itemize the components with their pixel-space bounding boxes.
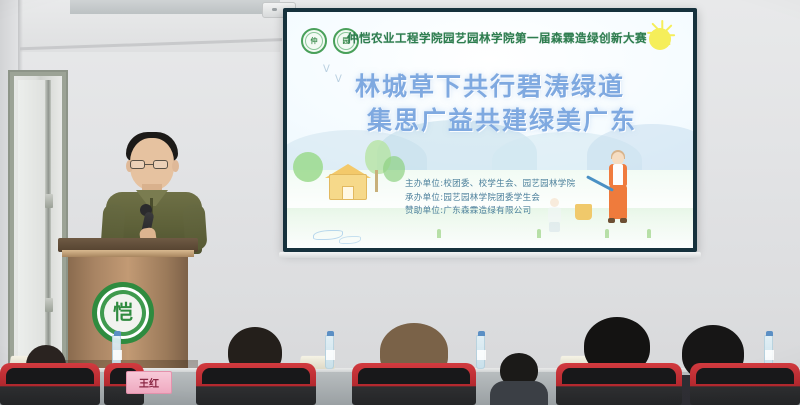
credit-line-organizer: 主办单位:校团委、校学生会、园艺园林学院 (405, 178, 605, 192)
chair[interactable] (690, 363, 800, 405)
grass-tuft (647, 229, 651, 238)
gardener-shoe (620, 218, 627, 223)
door-panel (14, 76, 62, 368)
slide-title-line-2: 集思广益共建绿美广东 (287, 104, 693, 138)
chair-inner (562, 368, 676, 384)
tree-illustration (293, 152, 323, 182)
walking-person-illustration (545, 198, 565, 232)
grass-tuft (537, 229, 541, 238)
house-illustration (325, 162, 371, 200)
gardener-illustration (601, 152, 635, 226)
grass-tuft (437, 229, 441, 238)
speaker-person (96, 132, 212, 254)
credit-line-host: 承办单位:园艺园林学院团委学生会 (405, 192, 605, 206)
chair[interactable] (0, 363, 100, 405)
house-door (342, 186, 354, 200)
tree-trunk (375, 170, 378, 192)
university-logo-glyph: 仲 (305, 32, 323, 50)
podium-emblem-glyph: 恺 (106, 296, 140, 330)
audience-member-4 (490, 353, 548, 405)
screen-bottom-lip (279, 252, 701, 258)
bucket-icon (575, 204, 592, 220)
speaker-ear (172, 160, 179, 172)
slide-title: 林城草下共行碧涛绿道 集思广益共建绿美广东 (287, 70, 693, 138)
tree-illustration (383, 156, 405, 182)
projection-screen: 仲 园 仲恺农业工程学院园艺园林学院第一届森霖造绿创新大赛 ᐯ ᐯ (287, 12, 693, 248)
projector-lens-icon (272, 8, 277, 11)
door-hinge-lower (45, 298, 53, 312)
chair-inner (202, 368, 310, 384)
bottle-label (326, 350, 335, 360)
bottle-cap (766, 331, 773, 336)
conference-room-scene: 仲 园 仲恺农业工程学院园艺园林学院第一届森霖造绿创新大赛 ᐯ ᐯ (0, 0, 800, 405)
podium-emblem-icon: 恺 (92, 282, 154, 344)
speaker-glasses-bridge (145, 164, 153, 165)
slide-title-line-1: 林城草下共行碧涛绿道 (287, 70, 693, 104)
bottle-label (765, 350, 774, 360)
chair[interactable] (556, 363, 682, 405)
chair[interactable] (196, 363, 316, 405)
slide-header-text: 仲恺农业工程学院园艺园林学院第一届森霖造绿创新大赛 (347, 30, 637, 46)
audience-body (490, 381, 548, 405)
upper-wall-strip (70, 0, 280, 14)
speaker-glasses-right (153, 160, 168, 169)
bottle-label (113, 350, 122, 360)
chair-inner (696, 368, 794, 384)
walker-body (548, 207, 561, 223)
grass-tuft (605, 229, 609, 238)
chair-inner (6, 368, 94, 384)
walker-head (550, 198, 559, 207)
projection-screen-frame: 仲 园 仲恺农业工程学院园艺园林学院第一届森霖造绿创新大赛 ᐯ ᐯ (283, 8, 697, 252)
bottle-cap (478, 331, 485, 336)
door-hinge-upper (45, 194, 53, 208)
bottle-label (477, 350, 486, 360)
chair-inner (358, 368, 470, 384)
gardener-vest (613, 164, 623, 186)
name-card: 王红 (126, 371, 172, 394)
gardener-shoe (608, 218, 615, 223)
sun-icon (649, 28, 671, 50)
speaker-glasses-left (130, 160, 145, 169)
water-bottle (476, 335, 485, 369)
bottle-cap (114, 331, 121, 336)
door[interactable] (8, 70, 68, 370)
water-bottle (325, 335, 334, 369)
walker-legs (549, 222, 560, 232)
podium-ledge (62, 250, 194, 257)
door-gap (46, 80, 51, 368)
bottle-cap (327, 331, 334, 336)
university-logo-icon: 仲 (301, 28, 327, 54)
door-left-leaf (18, 80, 46, 368)
chair[interactable] (352, 363, 476, 405)
